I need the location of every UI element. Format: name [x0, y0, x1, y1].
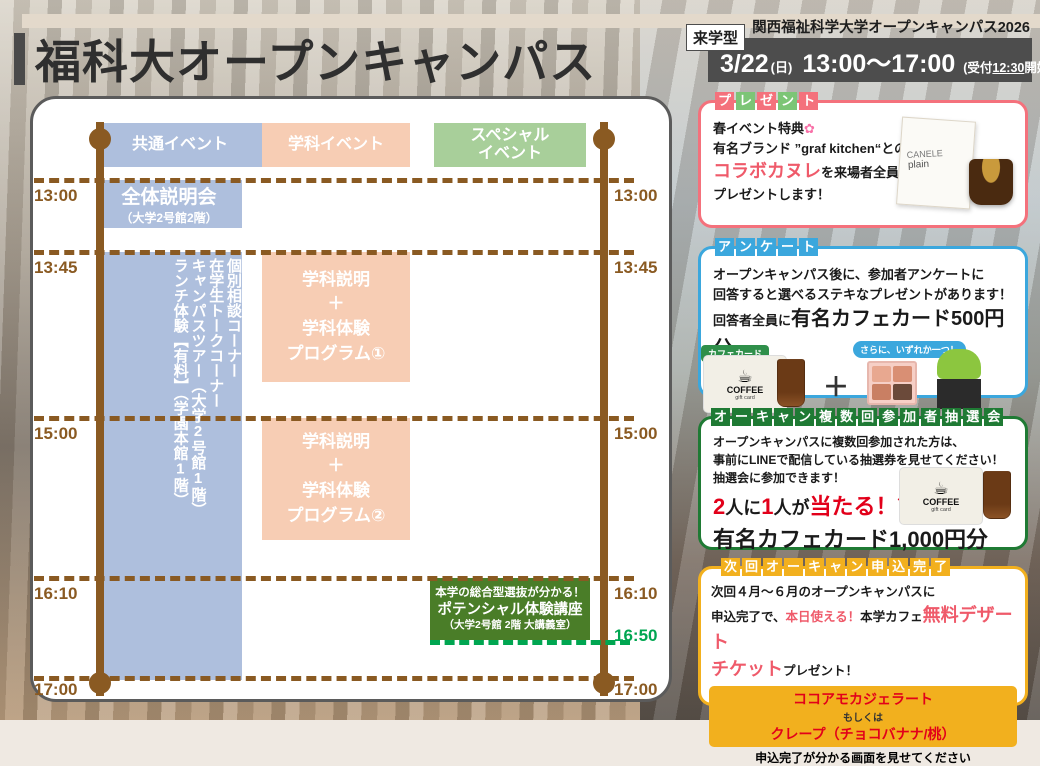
program1-line3: 学科体験 [302, 317, 370, 342]
lottery-odds-b: 人に [725, 498, 761, 518]
time-label-left-1: 13:00 [34, 186, 77, 206]
canele-bag-sub: plain [908, 157, 972, 171]
vertical-item-kobetsu: 個別相談コーナー [225, 258, 241, 680]
category-common: 共通イベント [96, 123, 264, 167]
dessert-option-2: クレープ（チョコバナナ/桃） [709, 724, 1017, 744]
panel-present: プレゼント 春イベント特典✿ 有名ブランド ”graf kitchen“との コ… [698, 100, 1028, 228]
bag-lid [937, 349, 981, 379]
special-line2: ポテンシャル体験講座 [438, 601, 583, 619]
next-line2: 申込完了で、本日使える！本学カフェ無料デザート [711, 602, 1015, 656]
event-time-range: 13:00～17:00 [802, 44, 955, 80]
timeline-dot-end-left [89, 672, 111, 694]
zentai-title: 全体説明会 [121, 182, 216, 209]
panel-next-body: 次回４月～６月のオープンキャンパスに 申込完了で、本日使える！本学カフェ無料デザ… [701, 569, 1025, 683]
time-label-left-5: 17:00 [34, 680, 77, 700]
time-label-left-3: 15:00 [34, 424, 77, 444]
lottery-odds-c: 1 [761, 494, 773, 519]
survey-line1: オープンキャンパス後に、参加者アンケートに [713, 265, 1013, 285]
lottery-line1: オープンキャンパスに複数回参加された方は、 [713, 433, 1013, 451]
time-rule-1700 [34, 676, 634, 681]
survey-line3-prefix: 回答者全員に [713, 313, 791, 328]
event-block-program2: 学科説明 ＋ 学科体験 プログラム② [262, 418, 410, 540]
timeline-dot-start-right [593, 128, 615, 150]
next-line2-c: 本学カフェ [860, 610, 923, 624]
category-department: 学科イベント [262, 123, 410, 167]
timeline-right [600, 122, 608, 696]
time-rule-1500 [34, 416, 634, 421]
event-datetime: 3/22 (日) 13:00～17:00 (受付12:30開始) [720, 44, 1040, 80]
next-line3: チケットプレゼント！ [711, 656, 1015, 683]
coffee-cup-icon: ☕ [933, 480, 948, 497]
timeline-dot-start-left [89, 128, 111, 150]
time-label-left-2: 13:45 [34, 258, 77, 278]
panel-next-tag: 次回オーキャン申込完了 [721, 558, 950, 576]
canele-image [969, 159, 1013, 205]
panel-next-apply: 次回オーキャン申込完了 次回４月～６月のオープンキャンパスに 申込完了で、本日使… [698, 566, 1028, 706]
event-block-special: 本学の総合型選抜が分かる！ ポテンシャル体験講座 （大学2号館 2階 大講義室） [430, 578, 590, 640]
lottery-prize: 有名カフェカード1,000円分 [713, 523, 1013, 556]
timeline-dot-end-right [593, 672, 615, 694]
category-special-line2: イベント [471, 145, 550, 163]
panel-present-tag: プレゼント [715, 92, 818, 110]
time-rule-1300 [34, 178, 634, 183]
page-title: 福科大オープンキャンパス [35, 26, 596, 92]
title-wrap: 福科大オープンキャンパス [14, 26, 596, 92]
vertical-item-lunch: ランチ体験【有料】（学園本館1階） [172, 258, 188, 680]
program2-line4: プログラム② [287, 504, 386, 529]
reception-suffix: 開始) [1024, 61, 1040, 75]
program1-line2: ＋ [328, 292, 345, 317]
lottery-cafe-card-image: ☕ COFFEE gift card [899, 467, 983, 525]
time-label-right-5: 17:00 [614, 680, 657, 700]
reception-time: 12:30 [992, 61, 1024, 75]
panel-survey: アンケート オープンキャンパス後に、参加者アンケートに 回答すると選べるステキな… [698, 246, 1028, 398]
event-block-common-vertical: 個別相談コーナー 在学生トークコーナー キャンパスツアー（大学2号館1階） ラン… [96, 252, 242, 680]
panel-survey-tag: アンケート [715, 238, 818, 256]
reception-info: (受付12:30開始) [963, 57, 1040, 76]
lottery-card-title: COFFEE [923, 497, 960, 507]
canele-package-image: CANELE plain [896, 117, 976, 210]
coffee-cup-icon: ☕ [737, 368, 752, 385]
survey-line2: 回答すると選べるステキなプレゼントがあります！ [713, 285, 1013, 305]
category-special: スペシャル イベント [434, 123, 586, 167]
dessert-or-label: もしくは [709, 709, 1017, 724]
event-block-zentai: 全体説明会 （大学2号館2階） [96, 180, 242, 228]
next-line3-b: プレゼント！ [783, 664, 858, 678]
cafe-card-image: ☕ COFFEE gift card [703, 355, 787, 413]
category-special-line1: スペシャル [471, 127, 550, 145]
lottery-iced-coffee-image [983, 471, 1011, 519]
event-date: 3/22 [720, 50, 769, 79]
program1-line4: プログラム① [287, 342, 386, 367]
status-badge: 来学型 [686, 24, 745, 51]
vertical-item-tour: キャンパスツアー（大学2号館1階） [190, 258, 206, 680]
bag-body [937, 379, 981, 409]
title-accent-bar [14, 33, 25, 85]
next-line1: 次回４月～６月のオープンキャンパスに [711, 583, 1015, 602]
reception-prefix: (受付 [963, 61, 992, 75]
green-bag-image [937, 349, 981, 409]
program1-line1: 学科説明 [302, 268, 370, 293]
time-label-right-4: 16:10 [614, 584, 657, 604]
special-line1: 本学の総合型選抜が分かる！ [435, 586, 585, 600]
time-label-right-1: 13:00 [614, 186, 657, 206]
plus-sign: ＋ [823, 367, 849, 404]
time-rule-1345 [34, 250, 634, 255]
next-line3-a: チケット [711, 659, 783, 679]
program2-line2: ＋ [328, 454, 345, 479]
flower-icon: ✿ [804, 121, 815, 136]
panel-lottery: オーキャン複数回参加者抽選会 オープンキャンパスに複数回参加された方は、 事前に… [698, 416, 1028, 550]
page-header: 福科大オープンキャンパス 関西福祉科学大学オープンキャンパス2026 来学型 3… [0, 14, 1040, 88]
zentai-place: （大学2号館2階） [120, 209, 217, 226]
dessert-options-box: ココアモカジェラート もしくは クレープ（チョコバナナ/桃） [709, 686, 1017, 747]
header-info: 関西福祉科学大学オープンキャンパス2026 来学型 3/22 (日) 13:00… [680, 14, 1032, 84]
university-name: 関西福祉科学大学オープンキャンパス2026 [752, 16, 1030, 37]
event-weekday: (日) [771, 57, 793, 76]
lottery-odds-d: 人が [774, 498, 810, 518]
special-line3: （大学2号館 2階 大講義室） [443, 619, 576, 632]
panel-lottery-tag: オーキャン複数回参加者抽選会 [711, 408, 1003, 426]
event-block-program1: 学科説明 ＋ 学科体験 プログラム① [262, 252, 410, 382]
time-label-left-4: 16:10 [34, 584, 77, 604]
cafe-card-sub: gift card [735, 395, 755, 401]
present-highlight: コラボカヌレ [713, 161, 821, 181]
lottery-odds-a: 2 [713, 494, 725, 519]
program2-line1: 学科説明 [302, 430, 370, 455]
timeline-left [96, 122, 104, 696]
time-label-right-2: 13:45 [614, 258, 657, 278]
dessert-option-1: ココアモカジェラート [709, 689, 1017, 709]
time-rule-1610 [34, 576, 634, 581]
time-label-right-3: 15:00 [614, 424, 657, 444]
vertical-item-talk: 在学生トークコーナー [208, 258, 224, 680]
cosmetic-palette-image [867, 361, 917, 405]
next-footer-note: 申込完了が分かる画面を見せてください [701, 749, 1025, 766]
cafe-card-title: COFFEE [727, 385, 764, 395]
program2-line3: 学科体験 [302, 479, 370, 504]
lottery-card-sub: gift card [931, 507, 951, 513]
time-rule-1650 [430, 640, 630, 645]
iced-coffee-image [777, 359, 805, 407]
next-line2-b: 本日使える！ [786, 610, 861, 624]
next-line2-a: 申込完了で、 [711, 610, 786, 624]
present-line1-text: 春イベント特典 [713, 121, 804, 136]
